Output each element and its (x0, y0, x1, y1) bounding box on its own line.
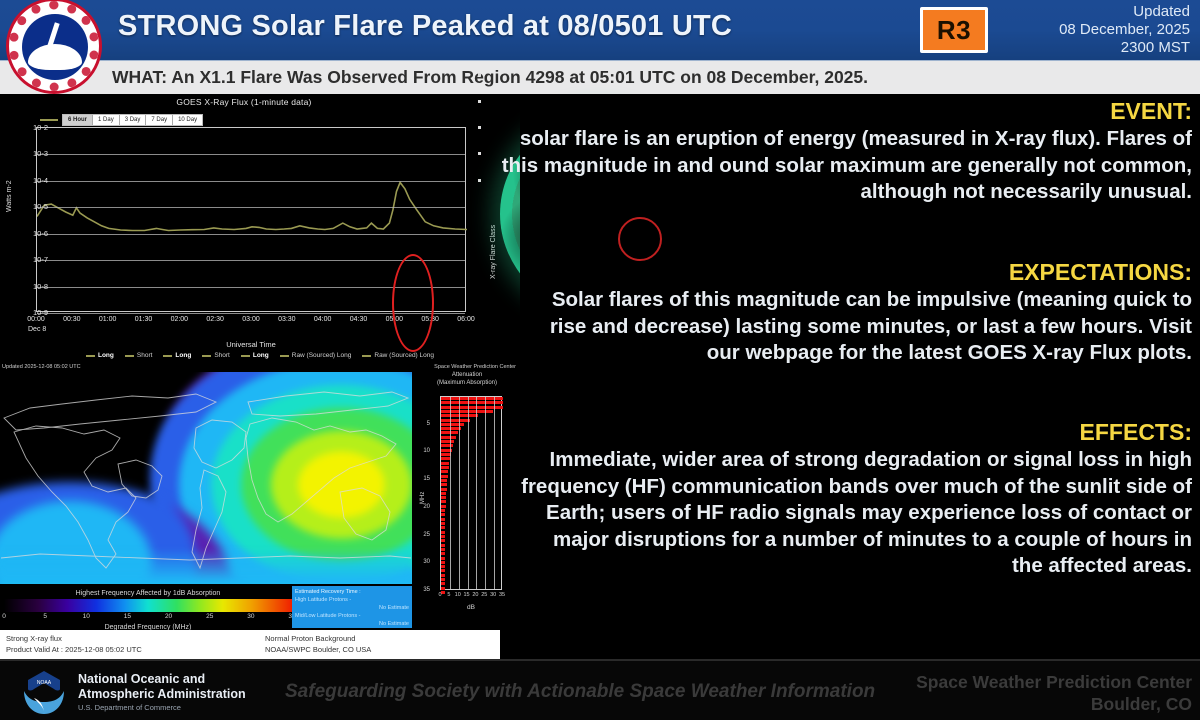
attenuation-x-tick-15: 15 (464, 592, 470, 598)
x-tick-label: 06:00 (457, 316, 475, 323)
drap-updated-stamp: Updated 2025-12-08 05:02 UTC (2, 364, 81, 370)
subheader-bar: WHAT: An X1.1 Flare Was Observed From Re… (0, 60, 1200, 94)
range-button-1[interactable]: 1 Day (93, 115, 120, 125)
recovery-time-box: Estimated Recovery Time : High Latitude … (292, 586, 412, 628)
attenuation-bar (441, 574, 445, 577)
colorbar-ticks: 05101520253035 (4, 613, 292, 623)
attenuation-bar (441, 496, 446, 499)
x-tick-label: 00:30 (63, 316, 81, 323)
world-absorption-map (0, 372, 412, 584)
legend-color-swatch (163, 355, 172, 357)
x-tick-label: 02:00 (171, 316, 189, 323)
legend-label: Raw (Sourced) Long (374, 352, 434, 359)
grid-line (37, 234, 465, 235)
grid-line (37, 154, 465, 155)
attenuation-x-title: dB (440, 604, 502, 611)
attenuation-plot-area (440, 396, 502, 590)
legend-color-swatch (125, 355, 134, 357)
footer-bar: NOAA National Oceanic and Atmospheric Ad… (0, 659, 1200, 720)
range-button-group[interactable]: 6 Hour1 Day3 Day7 Day10 Day (62, 114, 203, 126)
grid-line (37, 181, 465, 182)
attenuation-y-tick-15: 15 (414, 476, 430, 482)
colorbar-tick-5: 5 (43, 613, 47, 620)
attenuation-vgrid (476, 397, 477, 589)
x-tick-label: 00:00 (27, 316, 45, 323)
flare-class-tick-X (478, 179, 481, 182)
attenuation-bar (441, 569, 445, 572)
legend-label: Short (214, 352, 230, 359)
attenuation-bar (441, 531, 445, 534)
attenuation-y-title: MHz (420, 492, 426, 504)
recovery-line1: High Latitude Protons - (295, 596, 409, 604)
attenuation-x-tick-5: 5 (447, 592, 450, 598)
tagline: Safeguarding Society with Actionable Spa… (285, 681, 875, 703)
y-tick-label: 10-4 (8, 176, 48, 185)
y-tick-label: 10-7 (8, 255, 48, 264)
attenuation-bar (441, 578, 445, 581)
attenuation-bar (441, 522, 445, 525)
legend-label: Long (175, 352, 191, 359)
x-tick-label: 04:30 (350, 316, 368, 323)
attenuation-bar (441, 462, 449, 465)
flare-highlight-annotation (392, 254, 434, 352)
y-tick-label: 10-3 (8, 149, 48, 158)
attenuation-vgrid (459, 397, 460, 589)
grid-line (37, 207, 465, 208)
noaa-seal-icon: NOAA (20, 669, 68, 715)
information-panel: EVENT: solar flare is an eruption of ene… (520, 94, 1200, 659)
event-body: solar flare is an eruption of energy (me… (500, 126, 1200, 206)
range-button-4[interactable]: 10 Day (173, 115, 202, 125)
colorbar-title: Highest Frequency Affected by 1dB Absorp… (4, 590, 292, 597)
colorbar-block: Highest Frequency Affected by 1dB Absorp… (4, 590, 292, 631)
drap-footer-left1: Strong X-ray flux (6, 633, 494, 644)
goes-xray-flux-chart: GOES X-Ray Flux (1-minute data) 6 Hour1 … (0, 94, 520, 362)
attenuation-bar (441, 587, 445, 590)
flare-class-tick-A (478, 73, 481, 76)
drap-status-footer: Strong X-ray flux Product Valid At : 202… (0, 630, 500, 659)
attenuation-y-tick-20: 20 (414, 504, 430, 510)
legend-color-swatch (362, 355, 371, 357)
attenuation-title: Attenuation (Maximum Absorption) (414, 372, 520, 387)
attenuation-y-tick-30: 30 (414, 559, 430, 565)
attenuation-chart: Attenuation (Maximum Absorption) 5101520… (414, 372, 520, 628)
drap-footer-right2: NOAA/SWPC Boulder, CO USA (265, 644, 371, 655)
agency-line2: Atmospheric Administration (78, 687, 246, 701)
y-tick-label: 10-8 (8, 282, 48, 291)
attenuation-bar (441, 539, 445, 542)
coastline-overlay (0, 372, 412, 584)
drap-center-label: Space Weather Prediction Center (434, 364, 516, 370)
attenuation-bar (441, 582, 445, 585)
recovery-line2: No Estimate (295, 604, 409, 612)
what-statement: WHAT: An X1.1 Flare Was Observed From Re… (112, 67, 868, 88)
y-axis-title: Watts m-2 (6, 180, 13, 212)
attenuation-vgrid (468, 397, 469, 589)
recovery-title: Estimated Recovery Time : (295, 588, 409, 596)
attenuation-bar (441, 419, 470, 422)
swpc-line2: Boulder, CO (916, 693, 1192, 715)
x-axis-date: Dec 8 (28, 326, 46, 333)
attenuation-vgrid (494, 397, 495, 589)
attenuation-title-line2: (Maximum Absorption) (437, 380, 497, 386)
attenuation-x-tick-25: 25 (481, 592, 487, 598)
agency-name: National Oceanic and Atmospheric Adminis… (78, 672, 246, 701)
attenuation-x-tick-10: 10 (455, 592, 461, 598)
x-tick-label: 01:00 (99, 316, 117, 323)
attenuation-vgrid (485, 397, 486, 589)
colorbar-tick-25: 25 (206, 613, 213, 620)
attenuation-title-line1: Attenuation (452, 372, 482, 378)
attenuation-bar (441, 513, 445, 516)
legend-item-6: Raw (Sourced) Long (362, 352, 434, 359)
attenuation-bar (441, 457, 450, 460)
active-region-highlight-circle (618, 217, 662, 261)
x-tick-label: 01:30 (135, 316, 153, 323)
swpc-alert-graphic: STRONG Solar Flare Peaked at 08/0501 UTC… (0, 0, 1200, 720)
header-bar: STRONG Solar Flare Peaked at 08/0501 UTC… (0, 0, 1200, 60)
colorbar-gradient (4, 599, 292, 612)
effects-body: Immediate, wider area of strong degradat… (520, 447, 1200, 580)
colorbar-tick-20: 20 (165, 613, 172, 620)
attenuation-bar (441, 544, 445, 547)
colorbar-tick-30: 30 (247, 613, 254, 620)
flare-class-tick-M (478, 152, 481, 155)
attenuation-x-tick-20: 20 (472, 592, 478, 598)
chart-legend: LongShortLongShortLongRaw (Sourced) Long… (0, 352, 520, 359)
drap-absorption-product: Updated 2025-12-08 05:02 UTC Space Weath… (0, 364, 520, 659)
legend-color-swatch (86, 355, 95, 357)
attenuation-bar (441, 509, 445, 512)
x-tick-label: 03:00 (242, 316, 260, 323)
range-button-0[interactable]: 6 Hour (63, 115, 93, 125)
effects-heading: EFFECTS: (1080, 419, 1200, 446)
expectations-body: Solar flares of this magnitude can be im… (520, 287, 1200, 367)
graphics-panel: GOES X-Ray Flux (1-minute data) 6 Hour1 … (0, 94, 520, 659)
attenuation-bar (441, 565, 445, 568)
scale-badge-wrapper: R3 (920, 7, 988, 53)
attenuation-y-tick-5: 5 (414, 421, 430, 427)
attenuation-vgrid (450, 397, 451, 589)
legend-item-0: Long (86, 352, 114, 359)
flare-class-tick-B (478, 100, 481, 103)
legend-item-5: Raw (Sourced) Long (280, 352, 352, 359)
legend-item-4: Long (241, 352, 269, 359)
event-heading: EVENT: (1110, 98, 1200, 125)
colorbar-tick-0: 0 (2, 613, 6, 620)
y-tick-label: 10-5 (8, 202, 48, 211)
attenuation-bar (441, 526, 445, 529)
recovery-line4: No Estimate (295, 620, 409, 628)
agency-line1: National Oceanic and (78, 672, 205, 686)
attenuation-bar (441, 591, 445, 594)
attenuation-bar (441, 505, 446, 508)
drap-footer-right: Normal Proton Background NOAA/SWPC Bould… (265, 633, 371, 655)
legend-color-swatch (280, 355, 289, 357)
svg-text:NOAA: NOAA (37, 680, 52, 686)
attenuation-bar (441, 500, 446, 503)
attenuation-bar (441, 444, 453, 447)
attenuation-x-tick-0: 0 (438, 592, 441, 598)
swpc-line1: Space Weather Prediction Center (916, 671, 1192, 693)
attenuation-bar (441, 557, 445, 560)
attenuation-bar (441, 483, 447, 486)
nws-logo-icon (6, 0, 102, 94)
range-button-3[interactable]: 7 Day (146, 115, 173, 125)
y-tick-label: 10-6 (8, 229, 48, 238)
legend-label: Short (137, 352, 153, 359)
legend-swatch (40, 119, 58, 121)
attenuation-bar (441, 535, 445, 538)
x-tick-label: 03:30 (278, 316, 296, 323)
attenuation-bar (441, 436, 456, 439)
x-tick-label: 04:00 (314, 316, 332, 323)
updated-block: Updated 08 December, 2025 2300 MST (1059, 3, 1190, 57)
range-button-2[interactable]: 3 Day (120, 115, 147, 125)
flare-class-tick-C (478, 126, 481, 129)
legend-label: Long (98, 352, 114, 359)
drap-footer-right1: Normal Proton Background (265, 633, 371, 644)
attenuation-y-tick-35: 35 (414, 587, 430, 593)
swpc-attribution: Space Weather Prediction Center Boulder,… (916, 671, 1192, 715)
attenuation-bar (441, 479, 447, 482)
attenuation-bar (441, 548, 445, 551)
status-badge: R3 (923, 10, 985, 50)
chart-title: GOES X-Ray Flux (1-minute data) (0, 97, 488, 107)
drap-footer-left2: Product Valid At : 2025-12-08 05:02 UTC (6, 644, 494, 655)
noaa-seal-svg: NOAA (20, 669, 68, 715)
attenuation-bar (441, 440, 454, 443)
legend-label: Raw (Sourced) Long (292, 352, 352, 359)
attenuation-bar (441, 561, 445, 564)
colorbar-tick-15: 15 (124, 613, 131, 620)
expectations-heading: EXPECTATIONS: (1009, 259, 1200, 286)
legend-item-2: Long (163, 352, 191, 359)
legend-label: Long (253, 352, 269, 359)
attenuation-bar (441, 492, 446, 495)
attenuation-bar (441, 470, 448, 473)
attenuation-bar (441, 552, 445, 555)
updated-label: Updated (1059, 3, 1190, 21)
legend-color-swatch (202, 355, 211, 357)
legend-color-swatch (241, 355, 250, 357)
colorbar-tick-10: 10 (83, 613, 90, 620)
logo-dot-ring (9, 1, 99, 91)
attenuation-bar (441, 466, 449, 469)
attenuation-y-tick-25: 25 (414, 532, 430, 538)
attenuation-x-tick-35: 35 (499, 592, 505, 598)
updated-time: 2300 MST (1059, 39, 1190, 57)
recovery-line3: Mid/Low Latitude Protons - (295, 612, 409, 620)
attenuation-bar (441, 488, 447, 491)
attenuation-bar (441, 475, 448, 478)
attenuation-bar (441, 518, 445, 521)
x-tick-label: 02:30 (206, 316, 224, 323)
updated-date: 08 December, 2025 (1059, 21, 1190, 39)
attenuation-bar (441, 423, 464, 426)
legend-item-3: Short (202, 352, 230, 359)
legend-item-1: Short (125, 352, 153, 359)
page-title: STRONG Solar Flare Peaked at 08/0501 UTC (118, 10, 732, 43)
attenuation-y-tick-10: 10 (414, 448, 430, 454)
attenuation-x-tick-30: 30 (490, 592, 496, 598)
agency-subtitle: U.S. Department of Commerce (78, 703, 181, 712)
y-tick-label: 10-2 (8, 123, 48, 132)
